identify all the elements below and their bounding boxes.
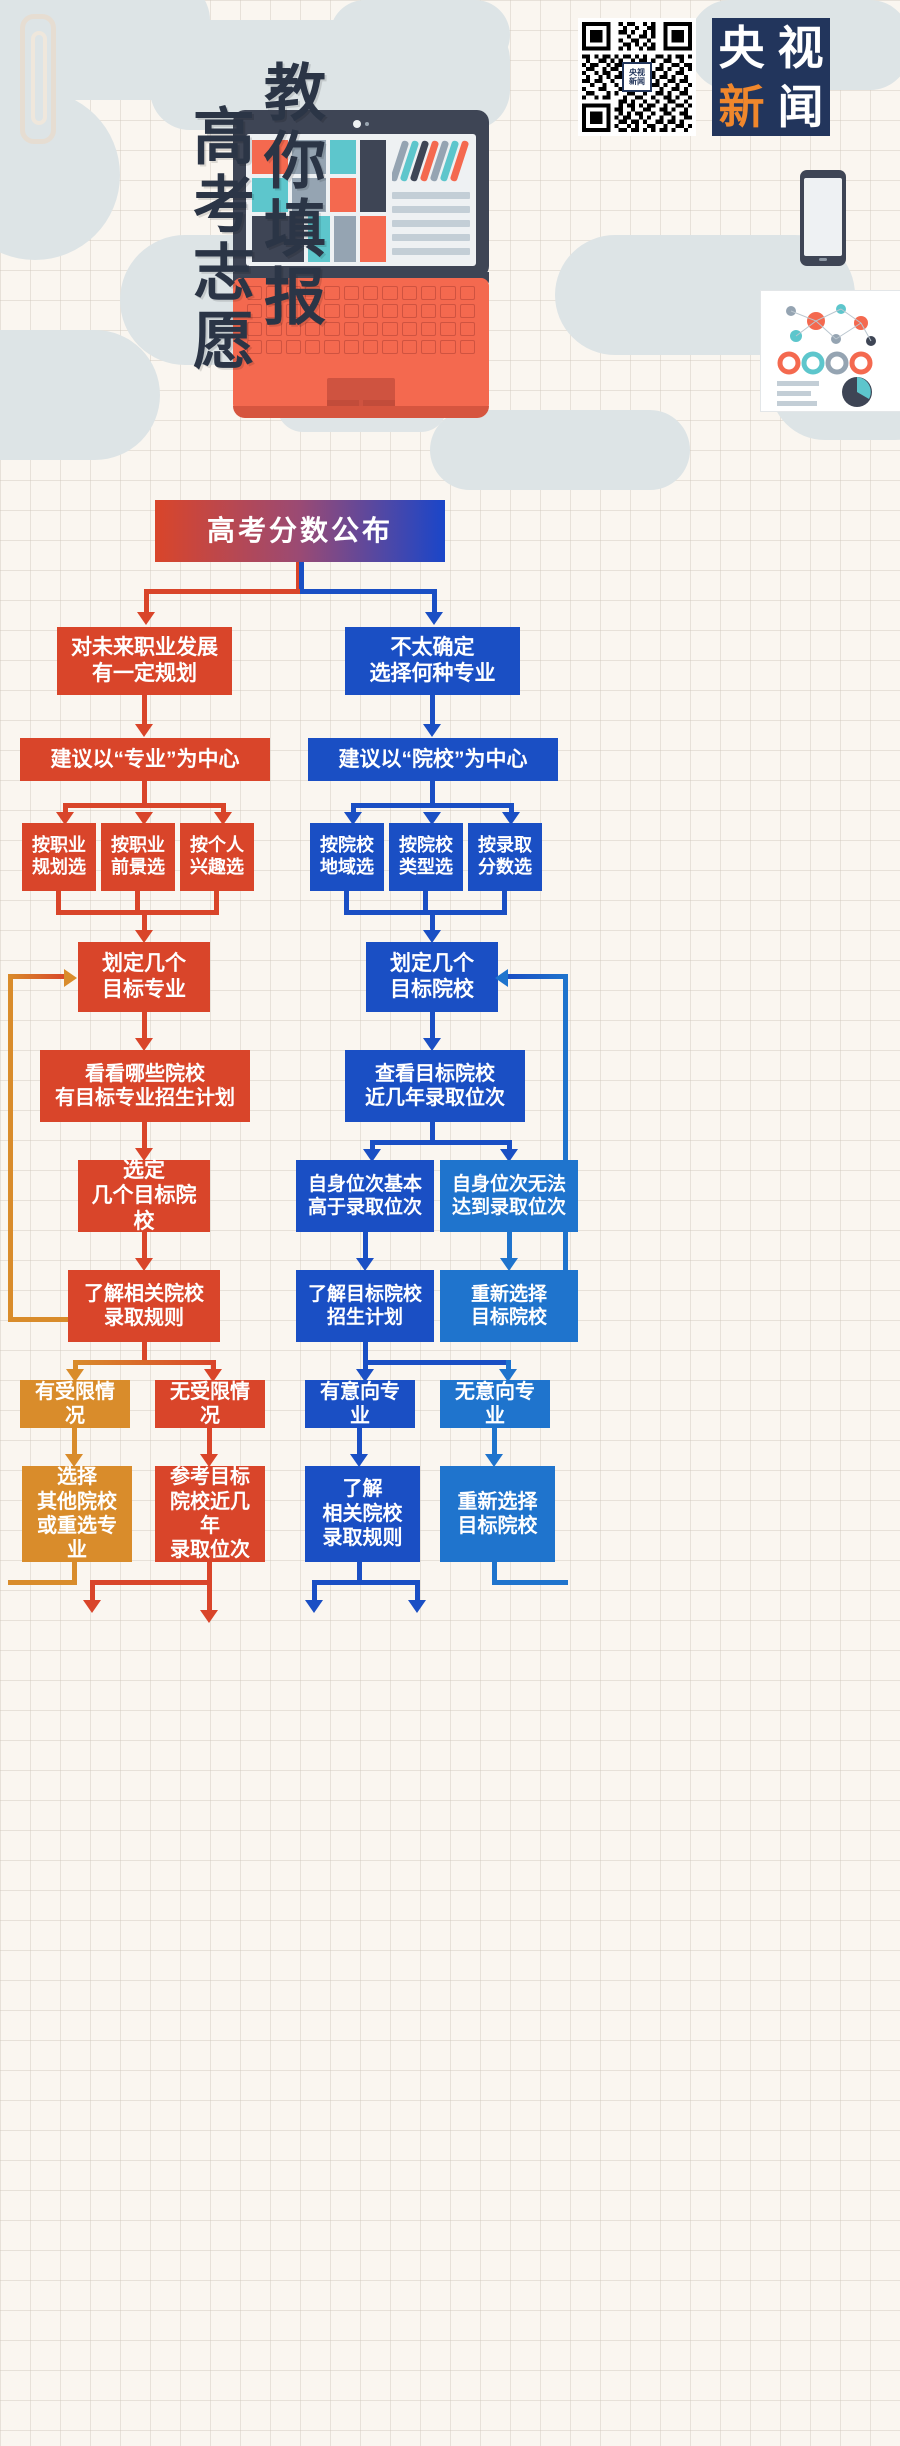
flow-left-triple-0[interactable]: 按职业 规划选 <box>22 823 96 891</box>
flow-left-target[interactable]: 划定几个 目标专业 <box>78 942 210 1012</box>
flow-right-branch[interactable]: 不太确定 选择何种专业 <box>345 627 520 695</box>
flow-right-major-yes[interactable]: 有意向专业 <box>305 1380 415 1428</box>
chart-sheet-illustration <box>760 290 900 412</box>
qr-badge-top: 央视 <box>629 68 645 77</box>
flow-right-center[interactable]: 建议以“院校”为中心 <box>308 738 558 781</box>
flow-right-rank-no[interactable]: 自身位次无法 达到录取位次 <box>440 1160 578 1232</box>
flow-right-final-no[interactable]: 重新选择 目标院校 <box>440 1466 555 1562</box>
flow-right-triple-0[interactable]: 按院校 地域选 <box>310 823 384 891</box>
qr-center-badge: 央视 新闻 <box>622 62 652 92</box>
cctv-news-logo: 央 视 新 闻 <box>712 18 830 136</box>
flow-right-triple-2[interactable]: 按录取 分数选 <box>468 823 542 891</box>
infographic-page: 央视 新闻 央 视 新 闻 教你填报 高考志愿 <box>0 0 900 2446</box>
flow-right-triple-1[interactable]: 按院校 类型选 <box>389 823 463 891</box>
qr-code[interactable]: 央视 新闻 <box>578 18 696 136</box>
flow-left-final-yes[interactable]: 选择 其他院校 或重选专业 <box>22 1466 132 1562</box>
page-title: 教你填报 高考志愿 <box>60 60 320 460</box>
qr-badge-bottom: 新闻 <box>629 77 645 86</box>
logo-char-xin: 新 <box>719 84 765 130</box>
flow-left-plan[interactable]: 看看哪些院校 有目标专业招生计划 <box>40 1050 250 1122</box>
flow-left-select[interactable]: 选定 几个目标院校 <box>78 1160 210 1232</box>
flow-left-rules[interactable]: 了解相关院校 录取规则 <box>68 1270 220 1342</box>
logo-char-wen: 闻 <box>778 84 824 130</box>
title-column-2: 高考志愿 <box>184 104 249 460</box>
flow-left-branch[interactable]: 对未来职业发展 有一定规划 <box>57 627 232 695</box>
flow-left-cond-no[interactable]: 无受限情况 <box>155 1380 265 1428</box>
flow-right-rank[interactable]: 查看目标院校 近几年录取位次 <box>345 1050 525 1122</box>
flow-root-box[interactable]: 高考分数公布 <box>155 500 445 562</box>
flow-left-final-no[interactable]: 参考目标 院校近几年 录取位次 <box>155 1466 265 1562</box>
flow-right-target[interactable]: 划定几个 目标院校 <box>366 942 498 1012</box>
phone-illustration <box>800 170 846 266</box>
flow-left-cond-yes[interactable]: 有受限情况 <box>20 1380 130 1428</box>
flow-left-triple-1[interactable]: 按职业 前景选 <box>101 823 175 891</box>
flow-left-triple-2[interactable]: 按个人 兴趣选 <box>180 823 254 891</box>
flow-right-major-no[interactable]: 无意向专业 <box>440 1380 550 1428</box>
title-column-1: 教你填报 <box>255 60 320 460</box>
logo-char-shi: 视 <box>778 25 824 71</box>
flow-right-plan[interactable]: 了解目标院校 招生计划 <box>296 1270 434 1342</box>
flow-right-final-yes[interactable]: 了解 相关院校 录取规则 <box>305 1466 420 1562</box>
paperclip-icon <box>20 14 56 144</box>
flow-left-center[interactable]: 建议以“专业”为中心 <box>20 738 270 781</box>
logo-char-yang: 央 <box>719 25 765 71</box>
flow-right-reselect[interactable]: 重新选择 目标院校 <box>440 1270 578 1342</box>
flow-right-rank-ok[interactable]: 自身位次基本 高于录取位次 <box>296 1160 434 1232</box>
header: 央视 新闻 央 视 新 闻 教你填报 高考志愿 <box>0 0 900 470</box>
